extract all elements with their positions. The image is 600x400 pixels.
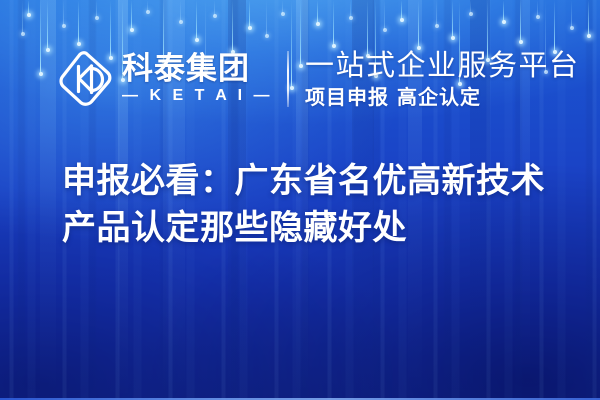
light-particle bbox=[588, 0, 589, 36]
ketai-diamond-kd-monogram-icon bbox=[58, 49, 114, 109]
light-particle bbox=[96, 0, 97, 18]
banner-header: 科泰集团 — K E T A I — 一站式企业服务平台 项目申报 高企认定 bbox=[0, 44, 600, 114]
light-particle bbox=[537, 0, 538, 17]
light-particle bbox=[28, 0, 29, 15]
light-particle bbox=[147, 0, 148, 12]
brand-wordmark: 科泰集团 — K E T A I — bbox=[122, 54, 273, 104]
light-particle bbox=[503, 0, 504, 22]
light-particle bbox=[520, 0, 521, 42]
header-divider bbox=[287, 51, 289, 107]
light-particle bbox=[22, 0, 23, 34]
brand-name-en: — K E T A I — bbox=[122, 88, 273, 104]
light-particle bbox=[452, 0, 453, 38]
light-particle bbox=[214, 0, 215, 16]
light-particle bbox=[47, 0, 48, 50]
light-particle bbox=[384, 0, 385, 30]
promo-banner: 科泰集团 — K E T A I — 一站式企业服务平台 项目申报 高企认定 申… bbox=[0, 0, 600, 400]
tagline-sub: 项目申报 高企认定 bbox=[305, 87, 580, 107]
light-particle bbox=[78, 0, 79, 44]
light-particle bbox=[266, 0, 267, 36]
light-particle bbox=[436, 0, 437, 26]
light-particle bbox=[401, 0, 402, 20]
tagline-main: 一站式企业服务平台 bbox=[305, 51, 580, 80]
light-particle bbox=[317, 0, 318, 24]
banner-headline: 申报必看：广东省名优高新技术产品认定那些隐藏好处 bbox=[62, 158, 552, 252]
light-particle bbox=[196, 0, 197, 40]
tagline-block: 一站式企业服务平台 项目申报 高企认定 bbox=[305, 51, 580, 107]
light-particle bbox=[131, 0, 132, 30]
light-particle bbox=[282, 0, 283, 14]
brand-logo: 科泰集团 — K E T A I — bbox=[58, 49, 273, 109]
brand-name-cn: 科泰集团 bbox=[122, 54, 273, 86]
light-particle bbox=[180, 0, 181, 22]
light-particle bbox=[470, 0, 471, 14]
light-particle bbox=[418, 0, 419, 48]
light-particle bbox=[350, 0, 351, 18]
light-particle bbox=[249, 0, 250, 28]
light-particle bbox=[333, 0, 334, 46]
light-particle bbox=[63, 0, 64, 26]
light-particle bbox=[571, 0, 572, 28]
